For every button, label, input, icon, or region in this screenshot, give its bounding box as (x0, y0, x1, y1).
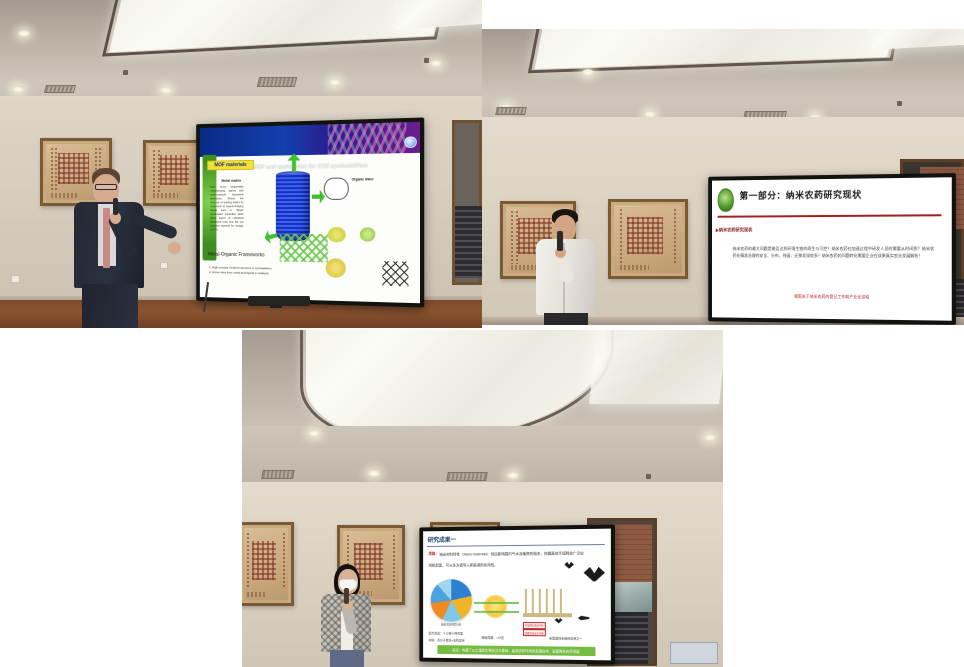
slide1-lattice-figure (383, 261, 409, 287)
display-screen-1: Synthesis of MOF and application for CO2… (200, 122, 420, 303)
slide1-subsection-title: Metal-Organic Frameworks (208, 251, 265, 258)
slide1-title-bar (200, 122, 420, 157)
slide3-bird-icon-small (564, 562, 574, 569)
presenter-trousers (82, 284, 138, 328)
slide3-col-label-2: 材料：高分子聚合+无机复合 (429, 638, 465, 642)
slide1-banner-art (328, 122, 406, 154)
sprinkler-2 (424, 58, 429, 63)
slide1-university-badge-icon (405, 136, 417, 148)
laptop-silhouette-bc (670, 642, 718, 664)
slide1-label-organic-linker: Organic linker (352, 177, 384, 182)
slide-nano-pesticide: 第一部分：纳米农药研究现状 纳米农药研究现状 纳米农药的最大问题是能否达到环境生… (712, 177, 952, 320)
photo-panel-top-right: 第一部分：纳米农药研究现状 纳米农药研究现状 纳米农药的最大问题是能否达到环境生… (482, 29, 964, 325)
slide3-green-band-1 (474, 602, 519, 604)
presenter-tie (103, 208, 110, 268)
slide3-col-label-1: 配方筛选：十三种十种剂型 (429, 631, 463, 635)
downlight-3 (160, 87, 172, 94)
slide1-body-heading: Metal matrix (222, 178, 242, 182)
downlight-bc-1 (308, 430, 320, 437)
slide3-soil-band (523, 613, 572, 617)
calligraphy-frame-tr-2 (608, 199, 688, 279)
slide1-bullet-2: 2. Active sites from metal and ligand in… (209, 270, 279, 277)
display-screen-frame-3: 研究成果一 思路： 纳米材料特性（Nano-materials）效应影响国内气水… (419, 524, 615, 664)
presenter-glasses-icon (95, 184, 117, 190)
slide3-crop-field (524, 589, 566, 612)
ceiling-vent-bc-2 (446, 472, 488, 481)
slide1-bullets: 1. High porosity Ordered structure in cy… (209, 265, 279, 277)
slide2-highlight-text: 我国关于纳米农药的登记工作和产业化进程 (763, 293, 902, 300)
downlight-5 (430, 60, 442, 67)
display-screen-frame-2: 第一部分：纳米农药研究现状 纳米农药研究现状 纳米农药的最大问题是能否达到环境生… (708, 173, 956, 325)
ceiling-vent-2 (257, 77, 297, 87)
slide1-cluster-3 (326, 258, 346, 278)
display-screen-frame-1: Synthesis of MOF and application for CO2… (196, 117, 424, 307)
slide3-col-label-4: 新型固体系统的应用之一 (549, 636, 582, 640)
downlight-1 (18, 30, 30, 37)
downlight-bc-2 (368, 470, 380, 477)
calligraphy-seal-tr-2 (627, 217, 663, 254)
downlight-4 (329, 79, 341, 86)
ceiling-vent-tr-1 (495, 107, 527, 115)
slide2-leaf-logo-icon (718, 189, 734, 212)
slide3-sun-icon (483, 595, 507, 618)
slide3-fish-icon (578, 615, 590, 620)
photo-collage: Synthesis of MOF and application for CO2… (0, 0, 964, 667)
slide1-mof-cube (276, 174, 311, 241)
display-stand-base-1 (248, 296, 310, 306)
display-screen-3: 研究成果一 思路： 纳米材料特性（Nano-materials）效应影响国内气水… (423, 529, 611, 661)
slide3-pie-chart (430, 579, 472, 621)
slide3-annotation-1: 高效靶向递送系统 (523, 622, 546, 629)
stacked-chairs (455, 206, 482, 278)
slide3-conclusion-bar: 结论：构建了以土壤和生物关注为基础，高效农药可持续发展技术，显著降低农药用量 (438, 645, 596, 656)
slide3-lead-text-2: 用和配套，可从多方面导入新能源的实用性。 (429, 562, 553, 569)
calligraphy-seal-bc-1 (252, 541, 276, 580)
slide-mof-co2: Synthesis of MOF and application for CO2… (200, 122, 420, 303)
slide3-green-band-2 (474, 611, 519, 613)
slide2-divider-rule (718, 215, 942, 218)
presenter2-microphone (557, 231, 563, 251)
presenter-hand-right (168, 242, 181, 254)
presenter-white-jacket (530, 209, 620, 325)
slide3-pie-chart-caption: 纳米农药剂型分布 (427, 622, 476, 626)
slide1-body-text: MOF some sequentially manufacturing agen… (210, 185, 243, 232)
presenter-suit (60, 168, 190, 328)
presenter3-microphone (344, 588, 349, 604)
slide-research-results: 研究成果一 思路： 纳米材料特性（Nano-materials）效应影响国内气水… (423, 529, 611, 661)
downlight-bc-4 (704, 434, 716, 441)
slide1-cluster-2 (360, 227, 376, 241)
calligraphy-frame-bc-1 (242, 522, 294, 606)
ceiling-vent-1 (44, 85, 76, 93)
presenter-masked-woman (320, 564, 390, 667)
sprinkler-1 (123, 70, 128, 75)
slide3-annotation-2: 减量增效安全控害 (523, 629, 546, 636)
photo-panel-bottom-center: 研究成果一 思路： 纳米材料特性（Nano-materials）效应影响国内气水… (242, 330, 723, 667)
slide3-insect-icon (555, 618, 563, 623)
downlight-bc-3 (507, 472, 519, 479)
slide3-bird-icon-large (584, 567, 605, 582)
slide2-body-text: 纳米农药的最大问题是能否达到环境生物的再生与可控？纳米农药在加速过程中研发人员的… (733, 245, 935, 259)
slide1-arrow-right-icon (312, 190, 325, 204)
wall-outlet-2 (11, 275, 20, 283)
slide1-cluster-1 (328, 227, 346, 243)
slide3-lead-text: 纳米材料特性（Nano-materials）效应影响国内气水及植物的吸收，快捷高… (439, 550, 603, 558)
slide1-section-tab: MOF materials (207, 160, 254, 170)
presenter3-trousers (330, 650, 364, 667)
display-screen-2: 第一部分：纳米农药研究现状 纳米农药研究现状 纳米农药的最大问题是能否达到环境生… (712, 177, 952, 320)
slide3-col-label-3: 释放周期：>70天 (481, 635, 504, 639)
slide1-green-network (280, 233, 328, 262)
photo-panel-top-left: Synthesis of MOF and application for CO2… (0, 0, 482, 328)
ceiling-vent-bc-1 (261, 470, 295, 479)
downlight-tr-1 (582, 69, 594, 76)
presenter-microphone (113, 198, 118, 215)
sprinkler-tr (897, 101, 902, 106)
slide3-title-rule (427, 544, 605, 547)
slide3-title: 研究成果一 (428, 535, 457, 544)
slide1-organic-linker-figure (324, 177, 349, 200)
sprinkler-bc (646, 474, 651, 479)
slide2-title: 第一部分：纳米农药研究现状 (740, 188, 862, 202)
downlight-2 (12, 86, 24, 93)
presenter2-trousers (544, 313, 588, 325)
slide3-lead-tag: 思路： (429, 551, 439, 556)
slide2-subheading: 纳米农药研究现状 (719, 227, 753, 233)
ceiling-light-panel-bc-right (589, 330, 723, 404)
